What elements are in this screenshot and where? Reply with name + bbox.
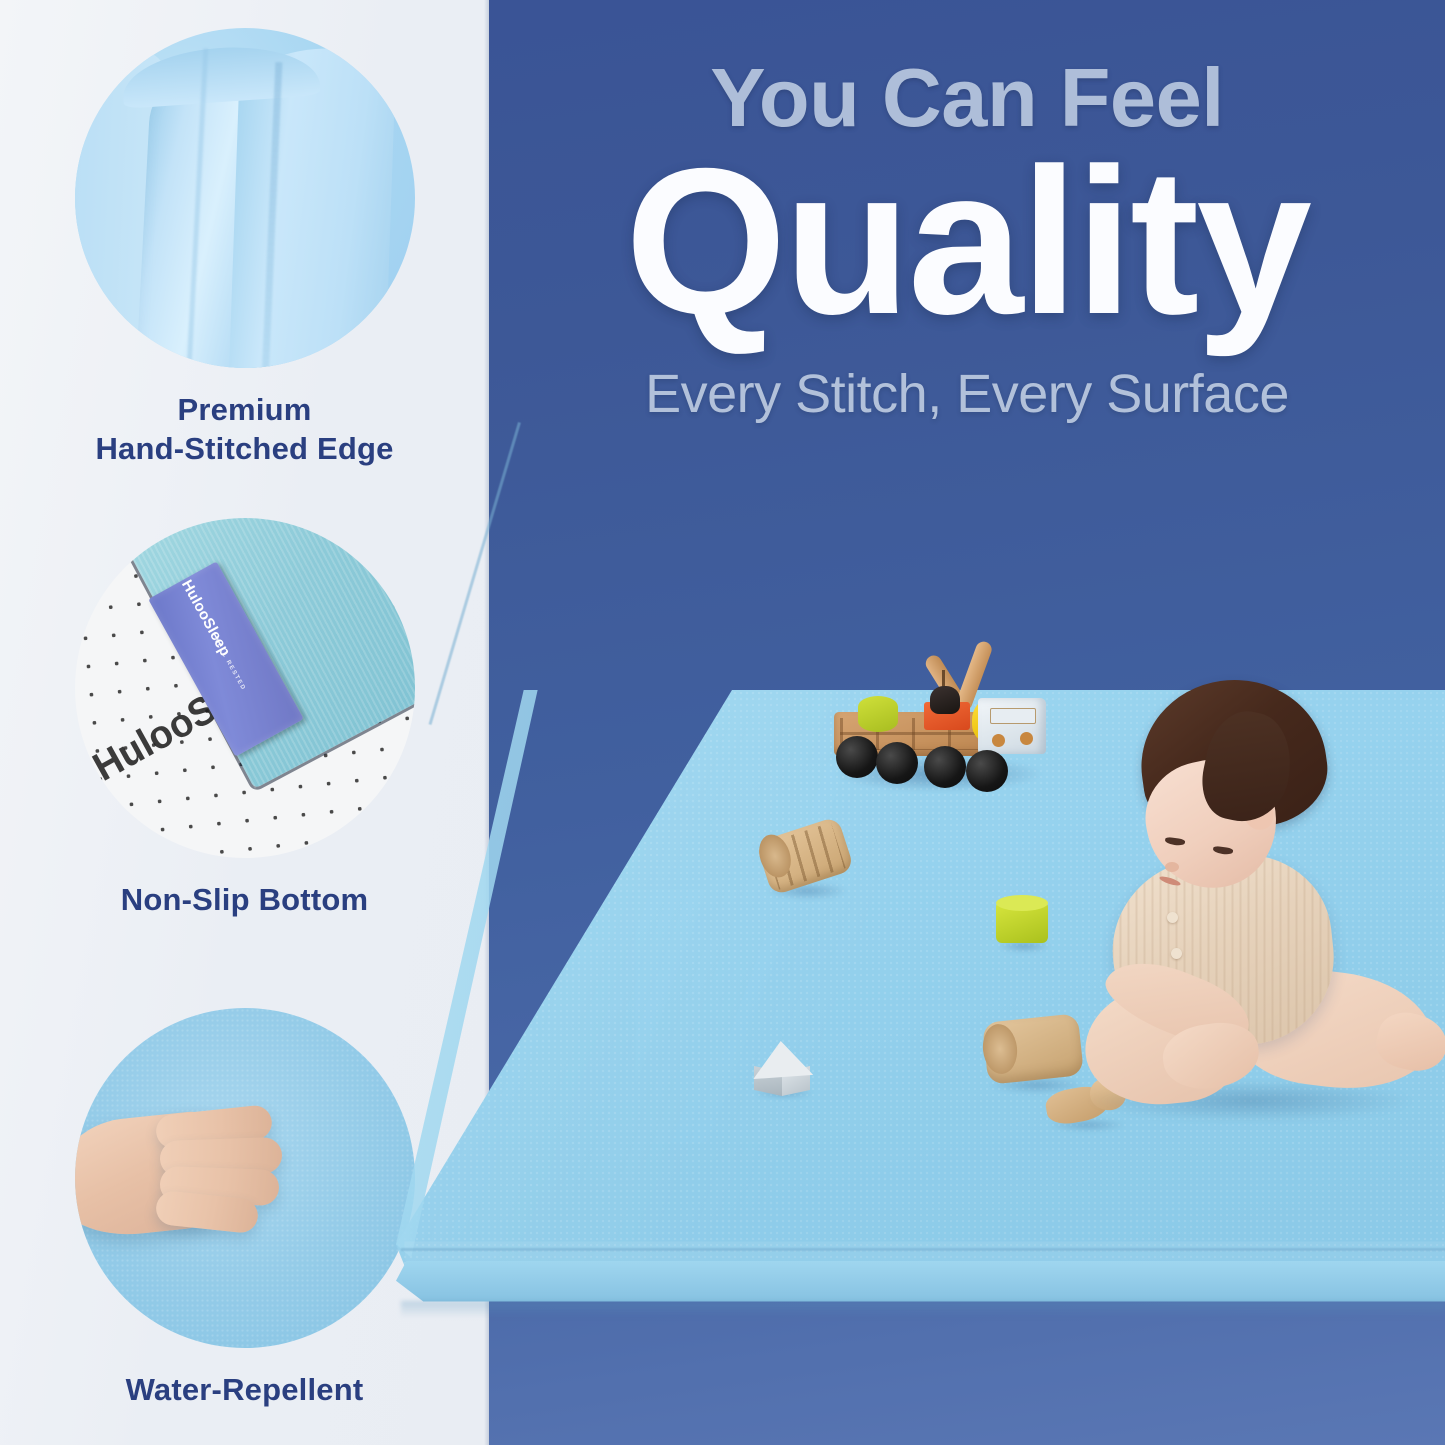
- fabric-fold-illustration: [75, 28, 415, 368]
- feature-label-line-2: Hand-Stitched Edge: [95, 429, 393, 468]
- headline-panel: You Can Feel Quality Every Stitch, Every…: [489, 0, 1445, 1445]
- feature-image-water-repellent: [75, 1008, 415, 1348]
- feature-label-line-1: Non-Slip Bottom: [121, 880, 369, 919]
- non-slip-illustration: HulooSl HulooSleep WELL RESTED: [75, 518, 415, 858]
- headline-subtitle: Every Stitch, Every Surface: [489, 363, 1445, 425]
- feature-item-hand-stitched-edge: Premium Hand-Stitched Edge: [0, 28, 489, 468]
- feature-image-non-slip-bottom: HulooSl HulooSleep WELL RESTED: [75, 518, 415, 858]
- feature-label-line-1: Water-Repellent: [126, 1370, 364, 1409]
- brand-tag-name: HulooSleep: [178, 577, 234, 659]
- feature-label-non-slip-bottom: Non-Slip Bottom: [121, 880, 369, 919]
- water-repellent-illustration: [75, 1008, 415, 1348]
- feature-item-water-repellent: Water-Repellent: [0, 1008, 489, 1409]
- feature-image-hand-stitched-edge: [75, 28, 415, 368]
- headline-line-2: Quality: [489, 145, 1445, 341]
- headline-block: You Can Feel Quality Every Stitch, Every…: [489, 0, 1445, 425]
- feature-label-hand-stitched-edge: Premium Hand-Stitched Edge: [95, 390, 393, 468]
- feature-panel: Premium Hand-Stitched Edge HulooSl Huloo…: [0, 0, 489, 1445]
- feature-label-line-1: Premium: [95, 390, 393, 429]
- feature-item-non-slip-bottom: HulooSl HulooSleep WELL RESTED Non-Slip …: [0, 518, 489, 919]
- product-feature-banner: You Can Feel Quality Every Stitch, Every…: [0, 0, 1445, 1445]
- feature-label-water-repellent: Water-Repellent: [126, 1370, 364, 1409]
